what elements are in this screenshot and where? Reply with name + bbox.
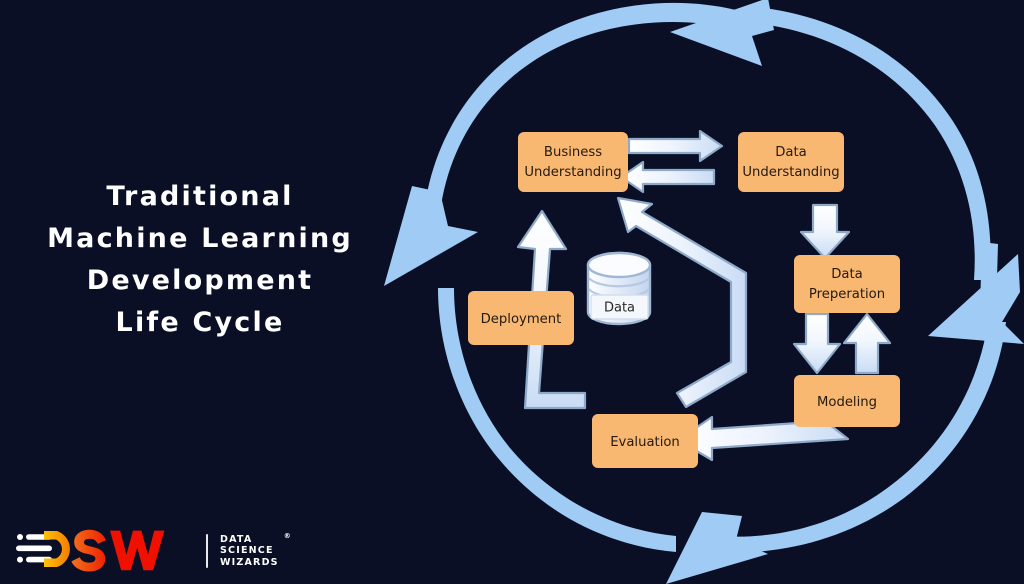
ring-right-stem: [980, 242, 998, 312]
node-data-preperation-box[interactable]: [794, 255, 900, 313]
data-cylinder: Data: [588, 253, 650, 324]
data-cylinder-label: Data: [604, 301, 635, 316]
registered-trademark-icon: ®: [284, 531, 291, 543]
slide-canvas: Traditional Machine Learning Development…: [0, 0, 1024, 576]
node-modeling-label: Modeling: [817, 395, 877, 410]
cylinder-top: [588, 253, 650, 277]
node-data-understanding[interactable]: Data Understanding: [738, 132, 844, 192]
ring-arrowhead-bottom: [666, 512, 768, 584]
node-modeling[interactable]: Modeling: [794, 375, 900, 427]
logo-divider: [206, 534, 208, 568]
node-data-preperation-line-2: Preperation: [809, 287, 885, 302]
exchange-arrow-left-icon: [621, 162, 714, 192]
dsw-logomark-icon: [14, 528, 196, 574]
title-line-4: Life Cycle: [40, 302, 360, 344]
node-business-understanding-line-2: Understanding: [524, 165, 621, 180]
brand-logo: ® DATA SCIENCE WIZARDS: [14, 528, 279, 574]
ml-lifecycle-diagram: Data Business Understanding Data Underst…: [370, 0, 1024, 584]
node-data-preperation-line-1: Data: [831, 267, 863, 282]
logo-word-1: DATA: [220, 534, 279, 546]
node-deployment-label: Deployment: [481, 312, 562, 327]
node-data-understanding-line-1: Data: [775, 145, 807, 160]
ring-segment-topleft: [422, 3, 736, 244]
node-data-understanding-box[interactable]: [738, 132, 844, 192]
connector-data-understanding-to-data-preperation: [801, 205, 849, 258]
logo-word-3: WIZARDS: [220, 557, 279, 569]
node-deployment[interactable]: Deployment: [468, 291, 574, 345]
logo-wordmark: ® DATA SCIENCE WIZARDS: [220, 534, 279, 569]
node-data-understanding-line-2: Understanding: [742, 165, 839, 180]
title-line-2: Machine Learning: [40, 218, 360, 260]
title-line-1: Traditional: [40, 176, 360, 218]
logo-word-2: SCIENCE: [220, 545, 279, 557]
pair-down-arrow-icon: [794, 314, 840, 373]
connector-data-preperation-to-modeling: [794, 314, 890, 373]
connector-business-to-data-understanding: [621, 131, 722, 192]
exchange-arrow-right-icon: [629, 131, 722, 161]
title-line-3: Development: [40, 260, 360, 302]
page-title: Traditional Machine Learning Development…: [40, 176, 360, 344]
down-arrow-icon: [801, 205, 849, 258]
node-business-understanding-line-1: Business: [544, 145, 602, 160]
pair-up-arrow-icon: [844, 314, 890, 373]
node-evaluation[interactable]: Evaluation: [592, 414, 698, 468]
node-business-understanding[interactable]: Business Understanding: [518, 132, 628, 192]
node-evaluation-label: Evaluation: [610, 435, 680, 450]
node-data-preperation[interactable]: Data Preperation: [794, 255, 900, 313]
node-business-understanding-box[interactable]: [518, 132, 628, 192]
